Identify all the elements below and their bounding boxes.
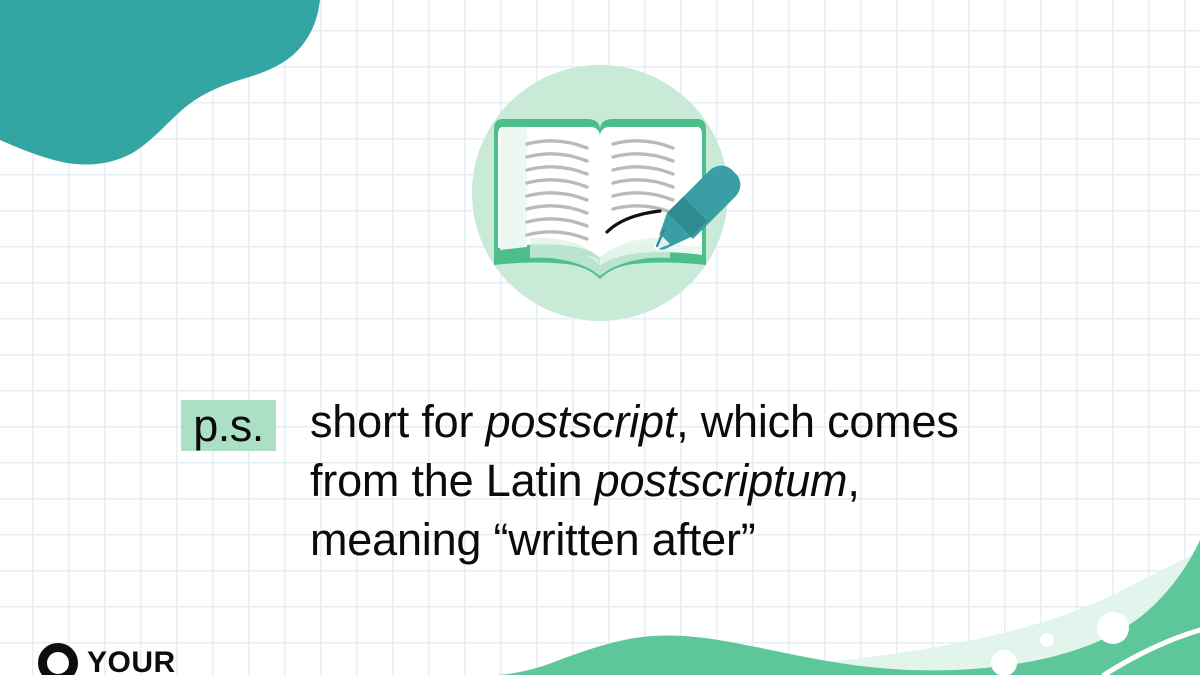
definition-block: p.s. short for postscript, which comes f… (181, 392, 1081, 569)
definition-line-3-text: meaning “written after” (310, 514, 756, 565)
term-label: p.s. (181, 400, 276, 451)
definition-line-2: from the Latin postscriptum, (181, 451, 1081, 510)
definition-line-3: meaning “written after” (181, 510, 1081, 569)
logo-wordmark: YOUR (87, 648, 176, 675)
definition-line-1-text: short for postscript, which comes (310, 396, 959, 447)
book-page-shade-left (500, 127, 527, 250)
logo-ring-icon (38, 643, 78, 675)
definition-line-1: p.s. short for postscript, which comes (181, 392, 1081, 451)
italic-term-postscriptum: postscriptum (595, 455, 848, 506)
slide-canvas: p.s. short for postscript, which comes f… (0, 0, 1200, 675)
brand-logo[interactable]: YOUR (38, 643, 176, 675)
italic-term-postscript: postscript (486, 396, 677, 447)
open-book-with-pen-icon (0, 0, 1200, 675)
definition-line-2-text: from the Latin postscriptum, (310, 455, 860, 506)
